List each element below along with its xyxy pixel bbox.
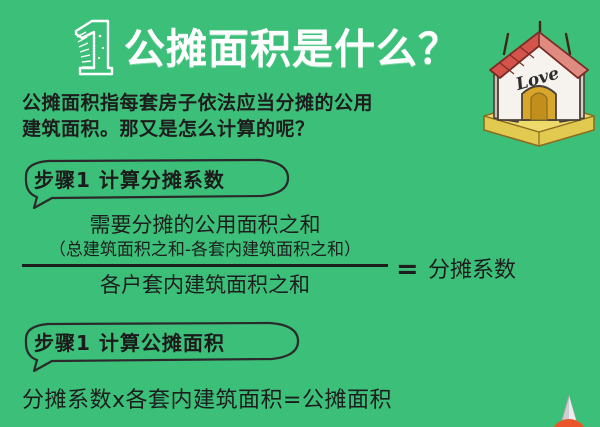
fraction: 需要分摊的公用面积之和 （总建筑面积之和-各套内建筑面积之和） 各户套内建筑面积… bbox=[22, 212, 388, 300]
step-1-label: 步骤1 计算分摊系数 bbox=[34, 165, 225, 195]
page-title: 公摊面积是什么？ bbox=[124, 22, 484, 80]
step-2-label: 步骤1 计算公摊面积 bbox=[34, 328, 225, 358]
numeral-one-icon bbox=[68, 18, 120, 78]
fraction-numerator-main: 需要分摊的公用面积之和 bbox=[22, 212, 388, 239]
intro-line-1: 公摊面积指每套房子依法应当分摊的公用 bbox=[22, 90, 492, 116]
step-1-bubble: 步骤1 计算分摊系数 bbox=[12, 157, 302, 209]
corner-mascot-icon bbox=[540, 394, 598, 427]
equals-sign: = bbox=[396, 255, 419, 285]
final-formula: 分摊系数x各套内建筑面积=公摊面积 bbox=[22, 386, 392, 416]
intro-paragraph: 公摊面积指每套房子依法应当分摊的公用 建筑面积。那又是怎么计算的呢？ bbox=[22, 90, 492, 142]
poster-canvas: 公摊面积是什么？ bbox=[0, 0, 600, 427]
formula-result: 分摊系数 bbox=[428, 256, 516, 286]
fraction-denominator: 各户套内建筑面积之和 bbox=[22, 267, 388, 300]
intro-line-2: 建筑面积。那又是怎么计算的呢？ bbox=[22, 116, 492, 142]
step-2-bubble: 步骤1 计算公摊面积 bbox=[12, 320, 312, 372]
house-illustration: Love bbox=[478, 8, 600, 150]
fraction-numerator-sub: （总建筑面积之和-各套内建筑面积之和） bbox=[22, 239, 388, 262]
